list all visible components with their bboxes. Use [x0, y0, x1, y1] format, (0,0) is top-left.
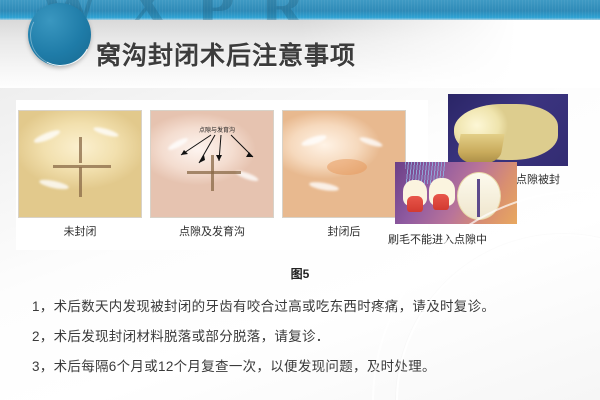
photo-cell-unsealed: 未封闭 — [18, 110, 142, 239]
banner-watermark-text: WXPR — [38, 0, 598, 20]
figure-panel: 未封闭 点隙与发育沟 — [16, 100, 428, 250]
photo-pits-fissures: 点隙与发育沟 — [150, 110, 274, 218]
photo-caption-unsealed: 未封闭 — [18, 223, 142, 239]
page-title: 窝沟封闭术后注意事项 — [96, 36, 356, 72]
photo-cell-sealed: 封闭后 — [282, 110, 406, 239]
illus-pit-sealed — [448, 94, 568, 166]
slide-root: WXPR 窝沟封闭术后注意事项 未封闭 点隙与发育沟 — [0, 0, 600, 400]
photo-caption-pits: 点隙及发育沟 — [150, 223, 274, 239]
photo-cell-pits: 点隙与发育沟 点隙及发育沟 — [150, 110, 274, 239]
photo-row: 未封闭 点隙与发育沟 — [18, 110, 406, 239]
photo-sealed — [282, 110, 406, 218]
illus-caption-pit-sealed: 点隙被封 — [516, 171, 560, 187]
top-banner: WXPR — [0, 0, 600, 20]
photo-unsealed — [18, 110, 142, 218]
